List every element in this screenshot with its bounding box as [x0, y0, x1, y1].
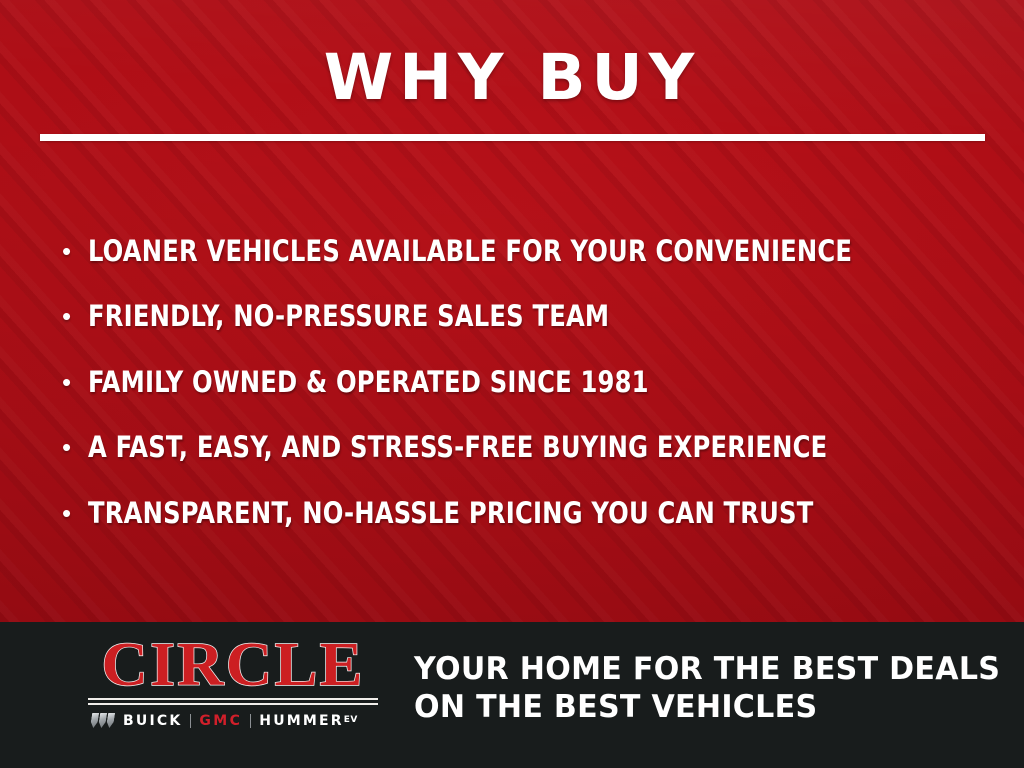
title-divider — [40, 134, 985, 141]
list-item: • TRANSPARENT, NO-HASSLE PRICING YOU CAN… — [62, 480, 992, 546]
list-item: • FRIENDLY, NO-PRESSURE SALES TEAM — [62, 284, 992, 350]
brand-label-hummer: HUMMER — [259, 714, 344, 728]
shield-icon — [98, 713, 107, 728]
brand-strip: BUICK GMC HUMMER EV — [88, 712, 378, 730]
list-item-label: LOANER VEHICLES AVAILABLE FOR YOUR CONVE… — [88, 234, 852, 268]
page-title: WHY BUY — [0, 46, 1024, 109]
shield-icon — [106, 713, 115, 728]
benefits-list: • LOANER VEHICLES AVAILABLE FOR YOUR CON… — [62, 218, 992, 546]
footer-tagline: YOUR HOME FOR THE BEST DEALS ON THE BEST… — [414, 650, 994, 726]
brand-label-hummer-ev-suffix: EV — [344, 716, 358, 725]
bullet-dot-icon: • — [62, 434, 88, 460]
footer-bar: CIRCLE BUICK GMC HUMMER EV YO — [0, 622, 1024, 768]
list-item-label: FAMILY OWNED & OPERATED SINCE 1981 — [88, 365, 649, 399]
list-item-label: FRIENDLY, NO-PRESSURE SALES TEAM — [88, 299, 609, 333]
bullet-dot-icon: • — [62, 238, 88, 264]
footer-tagline-line-1: YOUR HOME FOR THE BEST DEALS — [414, 650, 977, 688]
footer-tagline-line-2: ON THE BEST VEHICLES — [414, 688, 977, 726]
list-item-label: TRANSPARENT, NO-HASSLE PRICING YOU CAN T… — [88, 496, 813, 530]
list-item: • FAMILY OWNED & OPERATED SINCE 1981 — [62, 349, 992, 415]
list-item: • A FAST, EASY, AND STRESS-FREE BUYING E… — [62, 415, 992, 481]
bullet-dot-icon: • — [62, 369, 88, 395]
brand-separator — [190, 714, 191, 728]
bullet-dot-icon: • — [62, 303, 88, 329]
list-item-label: A FAST, EASY, AND STRESS-FREE BUYING EXP… — [88, 430, 827, 464]
buick-trishield-icon — [91, 713, 114, 728]
dealer-wordmark: CIRCLE — [82, 636, 384, 695]
brand-label-buick: BUICK — [123, 714, 182, 728]
brand-separator — [250, 714, 251, 728]
list-item: • LOANER VEHICLES AVAILABLE FOR YOUR CON… — [62, 218, 992, 284]
slide-root: WHY BUY • LOANER VEHICLES AVAILABLE FOR … — [0, 0, 1024, 768]
logo-divider-line — [88, 703, 378, 705]
shield-icon — [90, 713, 99, 728]
dealer-logo: CIRCLE BUICK GMC HUMMER EV — [88, 636, 378, 730]
bullet-dot-icon: • — [62, 500, 88, 526]
brand-label-gmc: GMC — [199, 714, 242, 728]
